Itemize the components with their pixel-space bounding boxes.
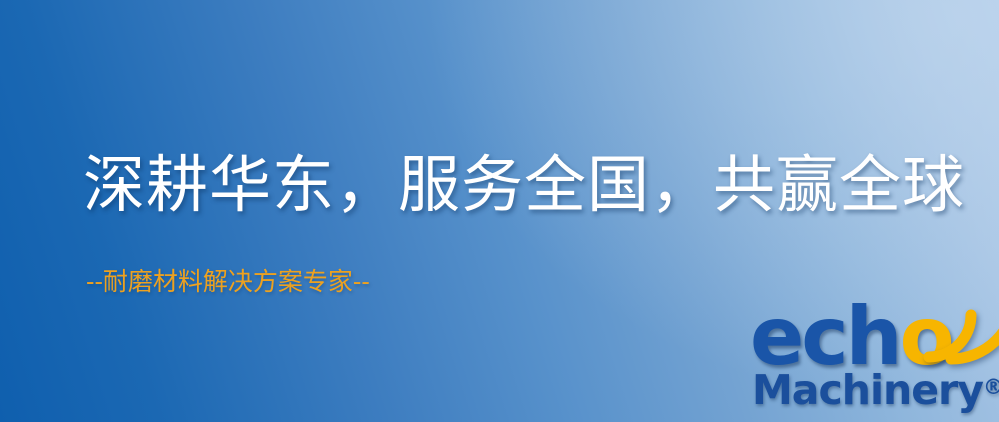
- page-title: 深耕华东，服务全国，共赢全球: [83, 152, 965, 219]
- echo-waves-icon: [921, 295, 999, 365]
- hero-banner: 深耕华东，服务全国，共赢全球 --耐磨材料解决方案专家-- echo Machi…: [0, 0, 999, 422]
- logo-subbrand: Machinery®: [752, 370, 999, 411]
- logo-subbrand-text: Machinery: [752, 366, 983, 414]
- page-subtitle: --耐磨材料解决方案专家--: [86, 268, 370, 296]
- registered-trademark-icon: ®: [983, 375, 999, 399]
- company-logo[interactable]: echo Machinery®: [748, 297, 999, 422]
